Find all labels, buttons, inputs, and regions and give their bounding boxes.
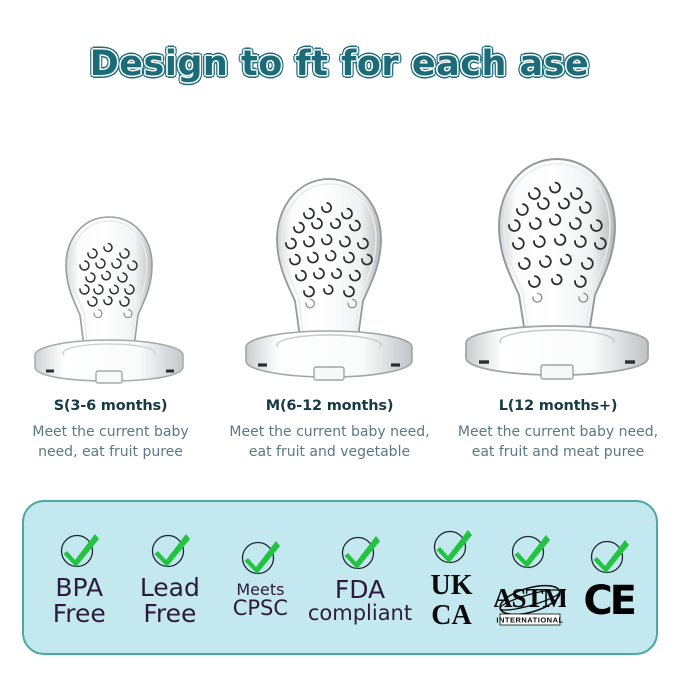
certification-lead-free: Lead Free — [127, 529, 213, 626]
product-image-medium — [234, 163, 424, 395]
label-line-1: Lead — [140, 575, 200, 601]
certification-astm-international: ASTM INTERNATIONAL — [491, 530, 569, 626]
astm-subtitle: INTERNATIONAL — [496, 615, 563, 624]
certification-panel: BPA Free Lead Free — [22, 500, 658, 655]
label-line-2: Free — [53, 601, 106, 627]
certification-label: Meets CPSC — [233, 582, 288, 620]
product-image-row — [0, 110, 679, 395]
desc-line-1: Meet the current baby — [32, 424, 188, 440]
large-feeder-nipple-icon — [455, 145, 659, 395]
product-infographic: Design to ft for each ase — [0, 0, 679, 679]
small-feeder-nipple-icon — [24, 195, 194, 395]
green-check-icon — [335, 531, 385, 575]
product-image-small — [24, 195, 194, 395]
label-line-1: BPA — [53, 575, 106, 601]
desc-line-2: eat fruit and meat puree — [472, 444, 645, 460]
label-line-1: FDA — [308, 577, 412, 603]
green-check-icon — [145, 529, 195, 573]
green-check-icon — [427, 525, 477, 569]
green-check-icon — [584, 535, 634, 579]
size-label-small: S(3-6 months) — [8, 398, 213, 414]
size-description-large: Meet the current baby need, eat fruit an… — [448, 422, 668, 462]
astm-logo-icon: ASTM INTERNATIONAL — [494, 576, 566, 626]
certification-list: BPA Free Lead Free — [24, 502, 656, 653]
ce-mark: CE — [583, 581, 634, 621]
caption-large: L(12 months+) Meet the current baby need… — [448, 398, 668, 462]
caption-row: S(3-6 months) Meet the current baby need… — [0, 398, 679, 478]
label-line-2: CPSC — [233, 598, 288, 619]
desc-line-2: need, eat fruit puree — [38, 444, 183, 460]
title-container: Design to ft for each ase — [0, 44, 679, 84]
medium-feeder-nipple-icon — [234, 163, 424, 395]
caption-medium: M(6-12 months) Meet the current baby nee… — [222, 398, 437, 462]
green-check-icon — [505, 530, 555, 574]
caption-small: S(3-6 months) Meet the current baby need… — [8, 398, 213, 462]
label-line-2: CA — [431, 601, 473, 630]
label-line-1: UK — [431, 571, 473, 600]
label-line-2: compliant — [308, 603, 412, 624]
certification-ce: CE — [574, 535, 644, 621]
certification-ukca: UK CA — [417, 525, 487, 630]
certification-meets-cpsc: Meets CPSC — [217, 536, 303, 620]
certification-fda-compliant: FDA compliant — [308, 531, 412, 624]
product-image-large — [455, 145, 659, 395]
green-check-icon — [235, 536, 285, 580]
size-label-large: L(12 months+) — [448, 398, 668, 414]
certification-bpa-free: BPA Free — [36, 529, 122, 626]
page-title: Design to ft for each ase — [90, 44, 590, 84]
certification-label: BPA Free — [53, 575, 106, 626]
green-check-icon — [54, 529, 104, 573]
desc-line-1: Meet the current baby need, — [229, 424, 429, 440]
size-description-small: Meet the current baby need, eat fruit pu… — [8, 422, 213, 462]
certification-label: FDA compliant — [308, 577, 412, 624]
ukca-mark: UK CA — [431, 571, 473, 630]
size-label-medium: M(6-12 months) — [222, 398, 437, 414]
desc-line-2: eat fruit and vegetable — [249, 444, 410, 460]
label-line-2: Free — [140, 601, 200, 627]
size-description-medium: Meet the current baby need, eat fruit an… — [222, 422, 437, 462]
desc-line-1: Meet the current baby need, — [458, 424, 658, 440]
certification-label: Lead Free — [140, 575, 200, 626]
